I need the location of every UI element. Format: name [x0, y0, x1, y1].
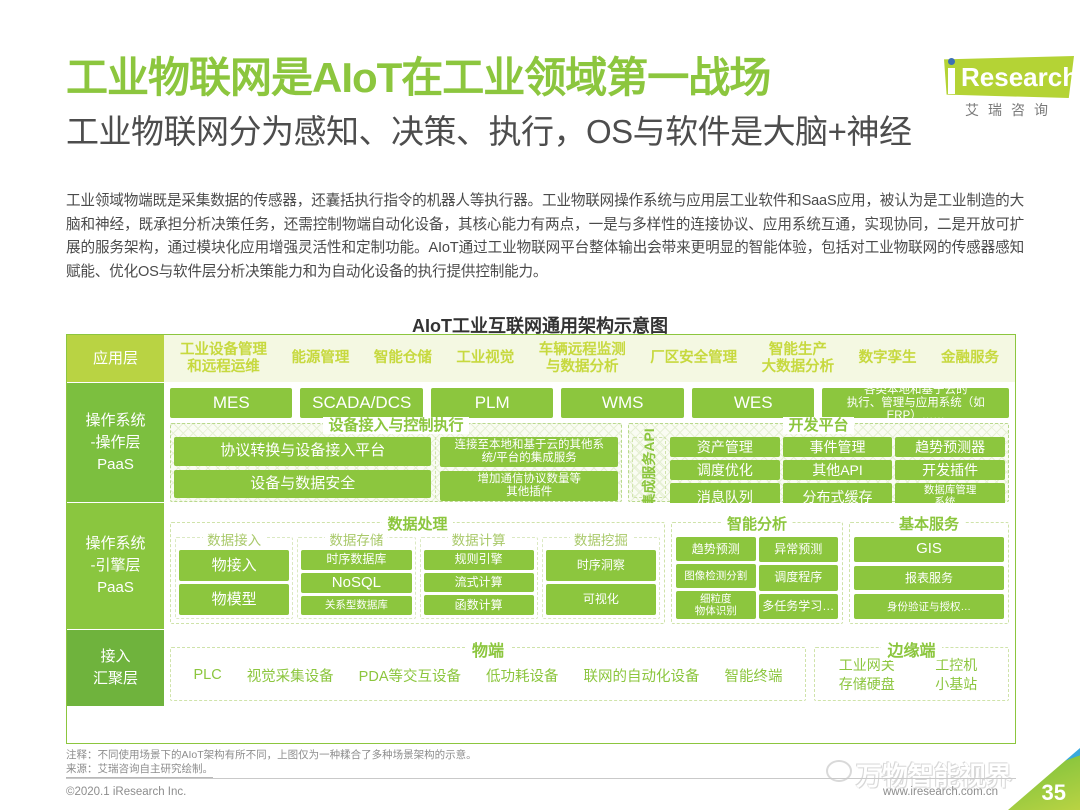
os-engine-layer-body: 数据处理 数据接入 物接入 物模型 数据存储 时序数据库 NoSQL 关系型数据… — [164, 503, 1015, 629]
data-compute-item[interactable]: 规则引擎 — [424, 550, 534, 570]
data-compute-subgroup: 数据计算 规则引擎 流式计算 函数计算 — [420, 537, 538, 619]
data-compute-title: 数据计算 — [421, 529, 537, 549]
application-layer-label: 应用层 — [67, 335, 164, 382]
edge-side-title: 边缘端 — [815, 637, 1008, 661]
data-mining-item[interactable]: 时序洞察 — [546, 550, 656, 581]
data-ingest-title: 数据接入 — [176, 529, 292, 549]
intelligent-analysis-group: 智能分析 趋势预测 图像检测分割 细粒度 物体识别 异常预测 调度程序 多任务学… — [671, 522, 843, 624]
os-groups-row: 设备接入与控制执行 协议转换与设备接入平台 设备与数据安全 连接至本地和基于云的… — [170, 423, 1009, 502]
logo-i-dot-icon — [948, 58, 955, 65]
app-item[interactable]: 智能仓储 — [370, 350, 436, 367]
footnote-note: 注释：不同使用场景下的AIoT架构有所不同，上图仅为一种糅合了多种场景架构的示意… — [66, 748, 846, 762]
intelligent-analysis-item[interactable]: 异常预测 — [759, 537, 839, 562]
footer-notes: 注释：不同使用场景下的AIoT架构有所不同，上图仅为一种糅合了多种场景架构的示意… — [66, 748, 846, 778]
logo-chinese-name: 艾瑞咨询 — [948, 100, 1074, 120]
device-access-title: 设备接入与控制执行 — [171, 414, 621, 435]
intelligent-analysis-title: 智能分析 — [672, 513, 842, 534]
basic-services-item[interactable]: 报表服务 — [854, 566, 1004, 591]
intelligent-analysis-item[interactable]: 调度程序 — [759, 565, 839, 590]
app-item[interactable]: 工业视觉 — [452, 350, 518, 367]
os-engine-layer-label: 操作系统 -引擎层 PaaS — [67, 503, 164, 629]
dev-platform-item[interactable]: 趋势预测器 — [895, 437, 1005, 457]
os-operation-layer-row: 操作系统 -操作层 PaaS MES SCADA/DCS PLM WMS WES… — [67, 383, 1015, 503]
thing-side-group: 物端 PLC 视觉采集设备 PDA等交互设备 低功耗设备 联网的自动化设备 智能… — [170, 647, 806, 701]
edge-side-item[interactable]: 存储硬盘 — [825, 675, 909, 694]
data-ingest-subgroup: 数据接入 物接入 物模型 — [175, 537, 293, 619]
os-operation-layer-label: 操作系统 -操作层 PaaS — [67, 383, 164, 502]
device-access-item[interactable]: 连接至本地和基于云的其他系 统/平台的集成服务 — [440, 437, 618, 467]
app-item[interactable]: 金融服务 — [937, 350, 1003, 367]
edge-side-group: 边缘端 工业网关 工控机 存储硬盘 小基站 — [814, 647, 1009, 701]
device-access-right-column: 连接至本地和基于云的其他系 统/平台的集成服务 增加通信协议数量等 其他插件 — [435, 437, 618, 498]
data-storage-item[interactable]: NoSQL — [301, 573, 411, 593]
data-compute-item[interactable]: 函数计算 — [424, 595, 534, 615]
api-band: 集成服务API — [632, 437, 666, 498]
api-band-label: 集成服务API — [639, 428, 659, 507]
data-storage-item[interactable]: 时序数据库 — [301, 550, 411, 570]
dev-platform-item[interactable]: 资产管理 — [670, 437, 780, 457]
device-access-item[interactable]: 设备与数据安全 — [174, 470, 431, 499]
device-access-item[interactable]: 协议转换与设备接入平台 — [174, 437, 431, 466]
app-item[interactable]: 厂区安全管理 — [646, 350, 741, 367]
website-url: www.iresearch.com.cn — [883, 786, 998, 798]
app-item[interactable]: 智能生产 大数据分析 — [758, 342, 839, 376]
dev-platform-group: 开发平台 集成服务API 资产管理 事件管理 趋势预测器 调度优化 其他API … — [628, 423, 1009, 502]
architecture-diagram: 应用层 工业设备管理 和远程运维 能源管理 智能仓储 工业视觉 车辆远程监测 与… — [66, 334, 1016, 744]
basic-services-item[interactable]: 身份验证与授权… — [854, 594, 1004, 619]
application-layer-row: 应用层 工业设备管理 和远程运维 能源管理 智能仓储 工业视觉 车辆远程监测 与… — [67, 335, 1015, 383]
device-access-left-column: 协议转换与设备接入平台 设备与数据安全 — [174, 437, 435, 498]
intelligent-analysis-item[interactable]: 趋势预测 — [676, 537, 756, 561]
dev-platform-item[interactable]: 开发插件 — [895, 460, 1005, 480]
footnote-source: 来源：艾瑞咨询自主研究绘制。 — [66, 762, 213, 778]
app-item[interactable]: 车辆远程监测 与数据分析 — [535, 342, 630, 376]
os-engine-layer-row: 操作系统 -引擎层 PaaS 数据处理 数据接入 物接入 物模型 数据存储 时序… — [67, 503, 1015, 630]
data-storage-subgroup: 数据存储 时序数据库 NoSQL 关系型数据库 — [297, 537, 415, 619]
data-processing-group: 数据处理 数据接入 物接入 物模型 数据存储 时序数据库 NoSQL 关系型数据… — [170, 522, 665, 624]
app-item[interactable]: 数字孪生 — [855, 350, 921, 367]
slide-page: 工业物联网是AIoT在工业领域第一战场 工业物联网分为感知、决策、执行，OS与软… — [0, 0, 1080, 810]
thing-side-item[interactable]: PDA等交互设备 — [359, 665, 461, 686]
paragraph-text: 工业领域物端既是采集数据的传感器，还囊括执行指令的机器人等执行器。工业物联网操作… — [66, 190, 1024, 284]
thing-side-item[interactable]: 低功耗设备 — [486, 665, 559, 686]
dev-platform-item[interactable]: 事件管理 — [783, 437, 893, 457]
data-compute-item[interactable]: 流式计算 — [424, 573, 534, 593]
edge-side-item[interactable]: 小基站 — [915, 675, 999, 694]
footer-divider — [66, 778, 1016, 779]
thing-side-item[interactable]: PLC — [193, 667, 221, 683]
access-layer-row: 接入 汇聚层 物端 PLC 视觉采集设备 PDA等交互设备 低功耗设备 联网的自… — [67, 630, 1015, 706]
data-mining-item[interactable]: 可视化 — [546, 584, 656, 615]
app-item[interactable]: 工业设备管理 和远程运维 — [176, 342, 271, 376]
data-mining-subgroup: 数据挖掘 时序洞察 可视化 — [542, 537, 660, 619]
thing-side-title: 物端 — [171, 637, 805, 661]
data-mining-title: 数据挖掘 — [543, 529, 659, 549]
intelligent-analysis-item[interactable]: 多任务学习… — [759, 594, 839, 619]
page-header: 工业物联网是AIoT在工业领域第一战场 工业物联网分为感知、决策、执行，OS与软… — [66, 52, 1016, 154]
data-ingest-item[interactable]: 物模型 — [179, 584, 289, 615]
data-storage-title: 数据存储 — [298, 529, 414, 549]
basic-services-item[interactable]: GIS — [854, 537, 1004, 562]
data-ingest-item[interactable]: 物接入 — [179, 550, 289, 581]
device-access-group: 设备接入与控制执行 协议转换与设备接入平台 设备与数据安全 连接至本地和基于云的… — [170, 423, 622, 502]
intelligent-analysis-column-2: 异常预测 调度程序 多任务学习… — [759, 537, 839, 619]
dev-platform-grid: 资产管理 事件管理 趋势预测器 调度优化 其他API 开发插件 消息队列 分布式… — [670, 437, 1005, 498]
intelligent-analysis-column-1: 趋势预测 图像检测分割 细粒度 物体识别 — [676, 537, 756, 619]
thing-side-item[interactable]: 智能终端 — [724, 665, 782, 686]
page-title: 工业物联网是AIoT在工业领域第一战场 — [66, 52, 1016, 104]
application-layer-body: 工业设备管理 和远程运维 能源管理 智能仓储 工业视觉 车辆远程监测 与数据分析… — [164, 335, 1015, 382]
dev-platform-item[interactable]: 其他API — [783, 460, 893, 480]
intelligent-analysis-item[interactable]: 图像检测分割 — [676, 564, 756, 588]
body-paragraph: 工业领域物端既是采集数据的传感器，还囊括执行指令的机器人等执行器。工业物联网操作… — [66, 190, 1024, 284]
device-access-item[interactable]: 增加通信协议数量等 其他插件 — [440, 471, 618, 501]
copyright-text: ©2020.1 iResearch Inc. — [66, 786, 186, 798]
dev-platform-item[interactable]: 调度优化 — [670, 460, 780, 480]
os-operation-layer-body: MES SCADA/DCS PLM WMS WES 各类本地和基于云的 执行、管… — [164, 383, 1015, 502]
access-layer-body: 物端 PLC 视觉采集设备 PDA等交互设备 低功耗设备 联网的自动化设备 智能… — [164, 630, 1015, 706]
iresearch-logo: Research 艾瑞咨询 — [924, 56, 1074, 120]
thing-side-item[interactable]: 联网的自动化设备 — [583, 665, 699, 686]
app-item[interactable]: 能源管理 — [287, 350, 353, 367]
logo-wordmark: Research — [961, 62, 1078, 93]
intelligent-analysis-item[interactable]: 细粒度 物体识别 — [676, 591, 756, 619]
access-layer-label: 接入 汇聚层 — [67, 630, 164, 706]
thing-side-item[interactable]: 视觉采集设备 — [247, 665, 334, 686]
page-number: 35 — [1042, 780, 1066, 806]
logo-i-stem-icon — [948, 68, 955, 94]
basic-services-title: 基本服务 — [850, 513, 1008, 534]
page-subtitle: 工业物联网分为感知、决策、执行，OS与软件是大脑+神经 — [66, 110, 1016, 154]
basic-services-group: 基本服务 GIS 报表服务 身份验证与授权… — [849, 522, 1009, 624]
data-storage-item[interactable]: 关系型数据库 — [301, 596, 411, 616]
dev-platform-title: 开发平台 — [629, 414, 1008, 435]
